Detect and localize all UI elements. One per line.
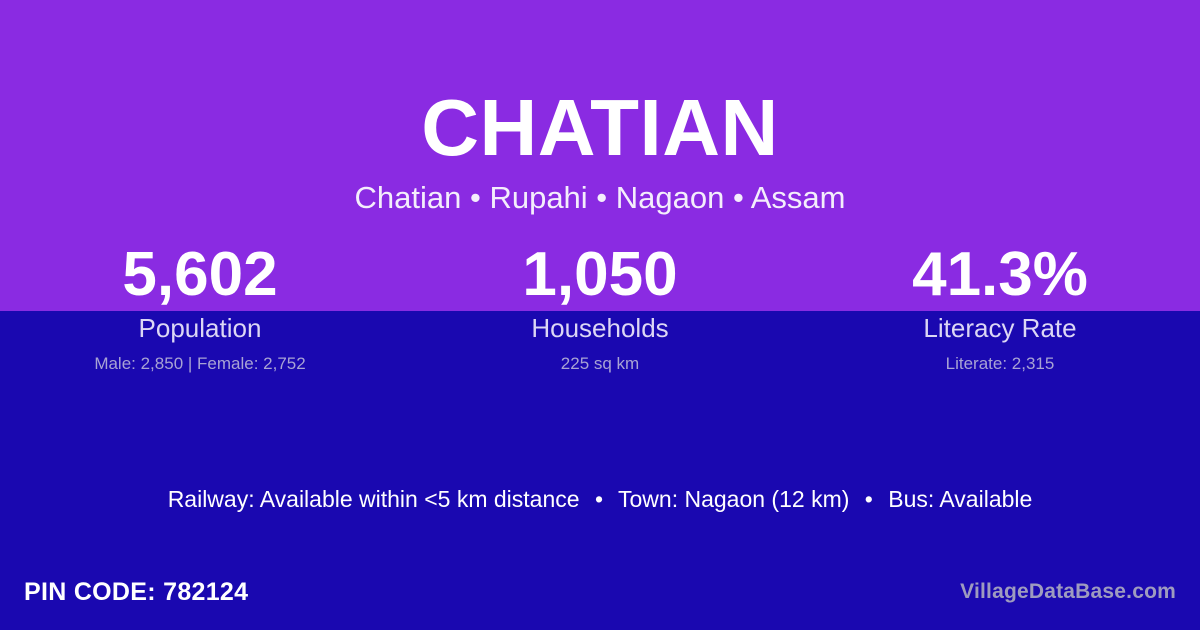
railway-info: Railway: Available within <5 km distance: [168, 486, 580, 512]
bus-info: Bus: Available: [888, 486, 1032, 512]
amenities-line: Railway: Available within <5 km distance…: [0, 484, 1200, 514]
site-brand: VillageDataBase.com: [960, 577, 1176, 607]
card-footer: PIN CODE: 782124 VillageDataBase.com: [0, 570, 1200, 614]
info-separator-1: •: [586, 484, 612, 514]
stat-value: 1,050: [400, 240, 800, 310]
stat-label: Population: [0, 312, 400, 344]
breadcrumb: Chatian • Rupahi • Nagaon • Assam: [0, 181, 1200, 215]
stat-value: 5,602: [0, 240, 400, 310]
stat-households: 1,050 Households 225 sq km: [400, 240, 800, 376]
stat-label: Literacy Rate: [800, 312, 1200, 344]
stat-population: 5,602 Population Male: 2,850 | Female: 2…: [0, 240, 400, 376]
stats-row: 5,602 Population Male: 2,850 | Female: 2…: [0, 240, 1200, 376]
pin-code: PIN CODE: 782124: [24, 577, 248, 607]
page-title: CHATIAN: [0, 88, 1200, 168]
stat-sublabel: 225 sq km: [400, 352, 800, 376]
stat-literacy-rate: 41.3% Literacy Rate Literate: 2,315: [800, 240, 1200, 376]
town-info: Town: Nagaon (12 km): [618, 486, 849, 512]
stat-sublabel: Literate: 2,315: [800, 352, 1200, 376]
stat-label: Households: [400, 312, 800, 344]
village-info-card: CHATIAN Chatian • Rupahi • Nagaon • Assa…: [0, 0, 1200, 630]
stat-value: 41.3%: [800, 240, 1200, 310]
stat-sublabel: Male: 2,850 | Female: 2,752: [0, 352, 400, 376]
info-separator-2: •: [856, 484, 882, 514]
